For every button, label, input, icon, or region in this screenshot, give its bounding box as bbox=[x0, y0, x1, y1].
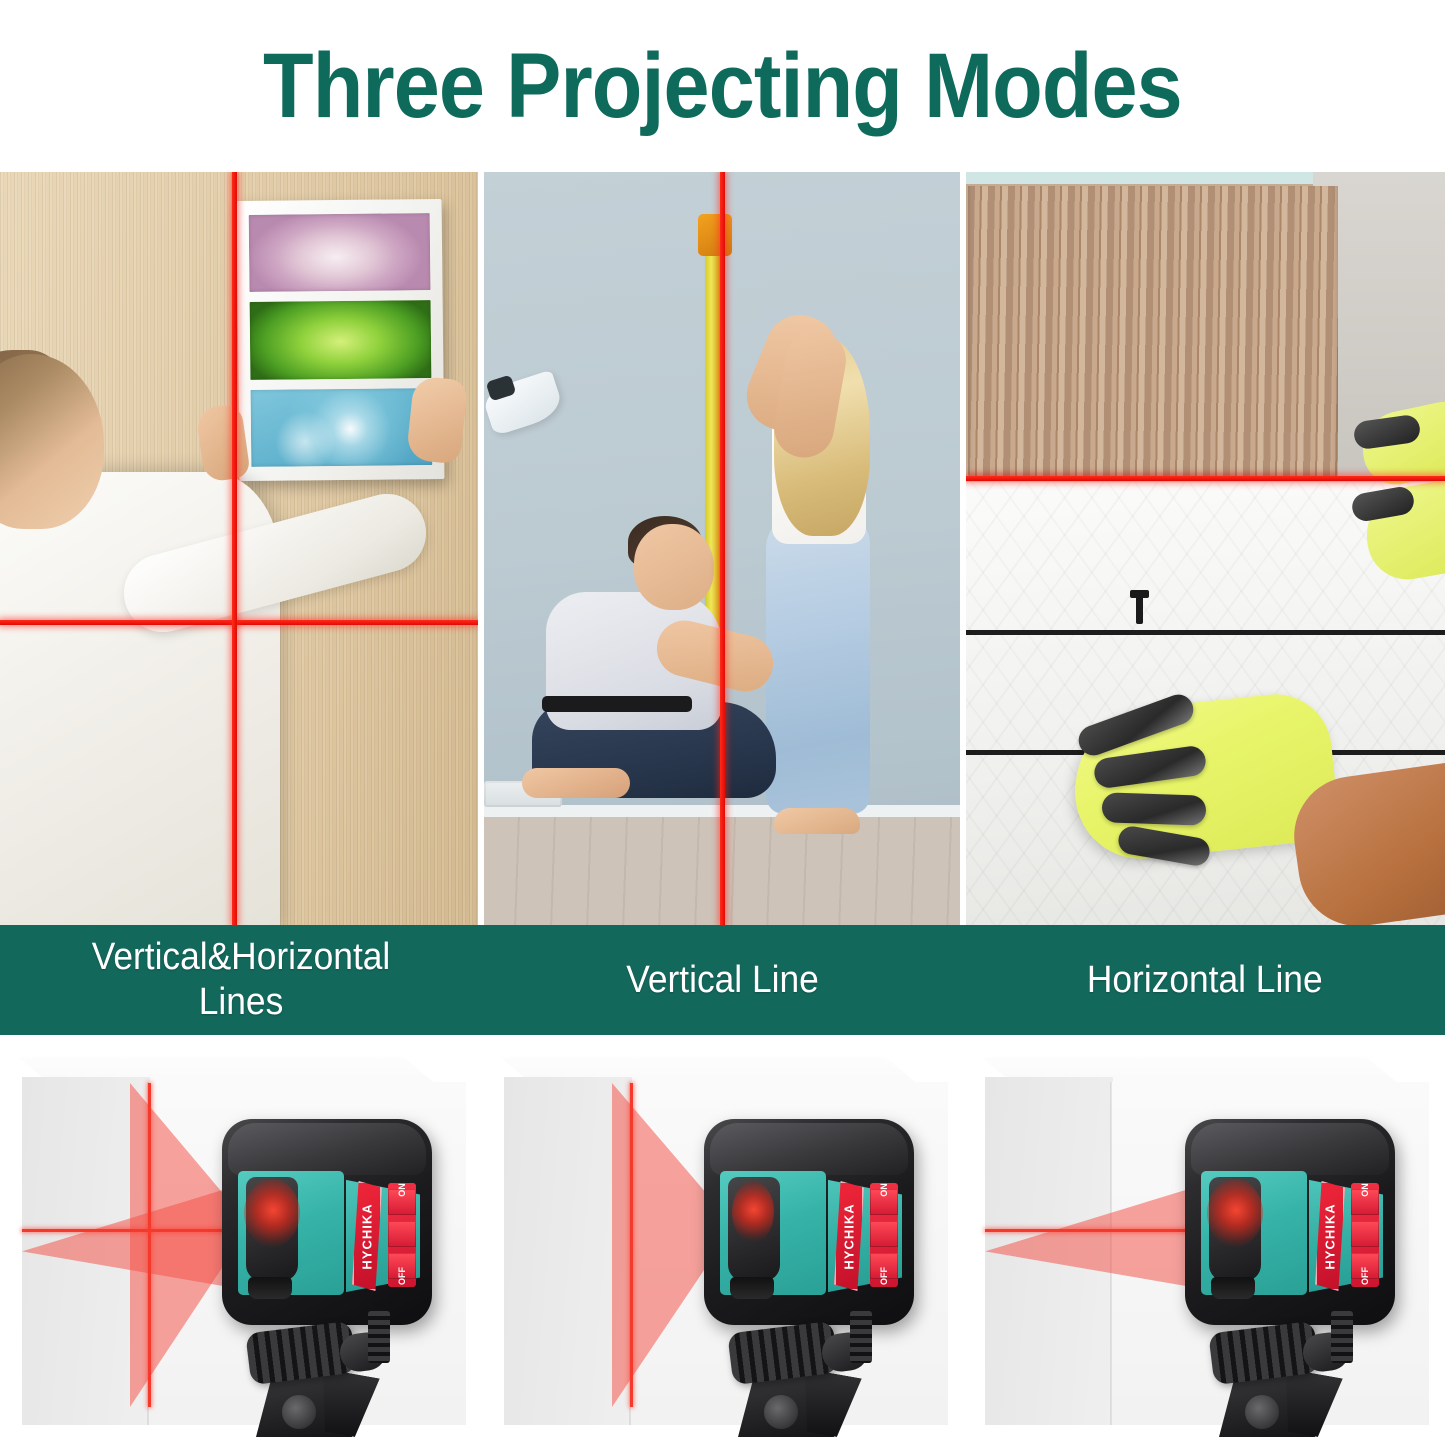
caption-cell-vertical-horizontal: Vertical&Horizontal Lines bbox=[0, 925, 482, 1035]
mount-pivot bbox=[764, 1395, 798, 1429]
laser-emitter-glow bbox=[1207, 1179, 1263, 1247]
laser-emitter-glow bbox=[732, 1181, 774, 1243]
power-switch[interactable]: ON OFF bbox=[388, 1183, 416, 1287]
mount-pivot bbox=[282, 1395, 316, 1429]
switch-rocker-mid[interactable] bbox=[388, 1221, 416, 1247]
mode-photo-vertical-horizontal bbox=[0, 172, 478, 925]
laser-level-unit: HYCHIKA ON OFF bbox=[1185, 1119, 1395, 1325]
woman-jeans bbox=[766, 514, 870, 814]
laser-level-unit: HYCHIKA ON OFF bbox=[704, 1119, 914, 1325]
glove-fingertip bbox=[1102, 792, 1207, 826]
frame-photo-flower bbox=[249, 213, 431, 292]
unit-base-notch bbox=[1211, 1277, 1255, 1299]
unit-top-cap bbox=[1191, 1123, 1389, 1175]
laser-beam-vertical bbox=[630, 1083, 633, 1407]
power-switch[interactable]: ON OFF bbox=[1351, 1183, 1379, 1287]
page-header: Three Projecting Modes bbox=[0, 0, 1445, 172]
laser-line-vertical bbox=[232, 172, 237, 925]
mount-pivot bbox=[1245, 1395, 1279, 1429]
brand-badge-text: HYCHIKA bbox=[352, 1181, 382, 1291]
brand-name: HYCHIKA bbox=[842, 1203, 857, 1269]
mode-photo-vertical bbox=[484, 172, 960, 925]
caption-cell-horizontal: Horizontal Line bbox=[964, 925, 1445, 1035]
mount-clamp-fin bbox=[1331, 1311, 1353, 1363]
tape-measure-body bbox=[698, 214, 732, 256]
brand-name: HYCHIKA bbox=[360, 1203, 375, 1269]
switch-on-label: ON bbox=[1360, 1176, 1370, 1204]
person-right-hand bbox=[406, 375, 468, 464]
switch-off-label: OFF bbox=[397, 1262, 407, 1290]
laser-beam-vertical bbox=[148, 1083, 151, 1407]
device-panel-vertical: HYCHIKA ON OFF bbox=[482, 1035, 964, 1445]
caption-cell-vertical: Vertical Line bbox=[482, 925, 964, 1035]
switch-on-label: ON bbox=[397, 1176, 407, 1204]
device-panel-horizontal: HYCHIKA ON OFF bbox=[963, 1035, 1445, 1445]
laser-line-horizontal bbox=[0, 620, 478, 625]
unit-top-cap bbox=[710, 1123, 908, 1175]
switch-off-label: OFF bbox=[1360, 1262, 1370, 1290]
tripod-mount bbox=[718, 1317, 888, 1437]
page-title: Three Projecting Modes bbox=[263, 40, 1182, 132]
mode-caption-bar: Vertical&Horizontal Lines Vertical Line … bbox=[0, 925, 1445, 1035]
mount-clamp-fin bbox=[368, 1311, 390, 1363]
man-belt bbox=[542, 696, 692, 712]
device-illustration-row: HYCHIKA ON OFF bbox=[0, 1035, 1445, 1445]
laser-level-unit: HYCHIKA ON OFF bbox=[222, 1119, 432, 1325]
laser-line-vertical bbox=[720, 172, 725, 925]
man-head bbox=[634, 524, 714, 610]
caption-label-vertical-horizontal: Vertical&Horizontal Lines bbox=[55, 935, 427, 1025]
laser-beam-horizontal bbox=[22, 1229, 254, 1232]
brand-badge-text: HYCHIKA bbox=[834, 1181, 864, 1291]
caption-label-horizontal: Horizontal Line bbox=[1087, 958, 1323, 1003]
mode-photo-row bbox=[0, 172, 1445, 925]
switch-off-label: OFF bbox=[879, 1262, 889, 1290]
power-switch[interactable]: ON OFF bbox=[870, 1183, 898, 1287]
brand-name: HYCHIKA bbox=[1323, 1203, 1338, 1269]
unit-base-notch bbox=[248, 1277, 292, 1299]
frame-photo-dandelion bbox=[251, 388, 433, 467]
brand-badge-text: HYCHIKA bbox=[1315, 1181, 1345, 1291]
unit-base-notch bbox=[730, 1277, 774, 1299]
laser-line-horizontal bbox=[966, 476, 1445, 481]
tripod-mount bbox=[1199, 1317, 1369, 1437]
mount-clamp-fin bbox=[850, 1311, 872, 1363]
device-panel-cross: HYCHIKA ON OFF bbox=[0, 1035, 482, 1445]
frame-photo-leaves bbox=[250, 300, 432, 379]
grout-line bbox=[966, 630, 1445, 635]
unit-top-cap bbox=[228, 1123, 426, 1175]
laser-emitter-glow bbox=[244, 1179, 300, 1247]
switch-rocker-mid[interactable] bbox=[1351, 1221, 1379, 1247]
mode-photo-horizontal bbox=[966, 172, 1445, 925]
notched-mortar bbox=[968, 186, 1338, 477]
man-foot bbox=[522, 768, 630, 798]
switch-on-label: ON bbox=[879, 1176, 889, 1204]
woman-feet bbox=[774, 808, 860, 834]
caption-label-vertical: Vertical Line bbox=[627, 958, 820, 1003]
tripod-mount bbox=[236, 1317, 406, 1437]
switch-rocker-mid[interactable] bbox=[870, 1221, 898, 1247]
laser-beam-horizontal bbox=[985, 1229, 1217, 1232]
tile-spacer bbox=[1136, 590, 1143, 624]
